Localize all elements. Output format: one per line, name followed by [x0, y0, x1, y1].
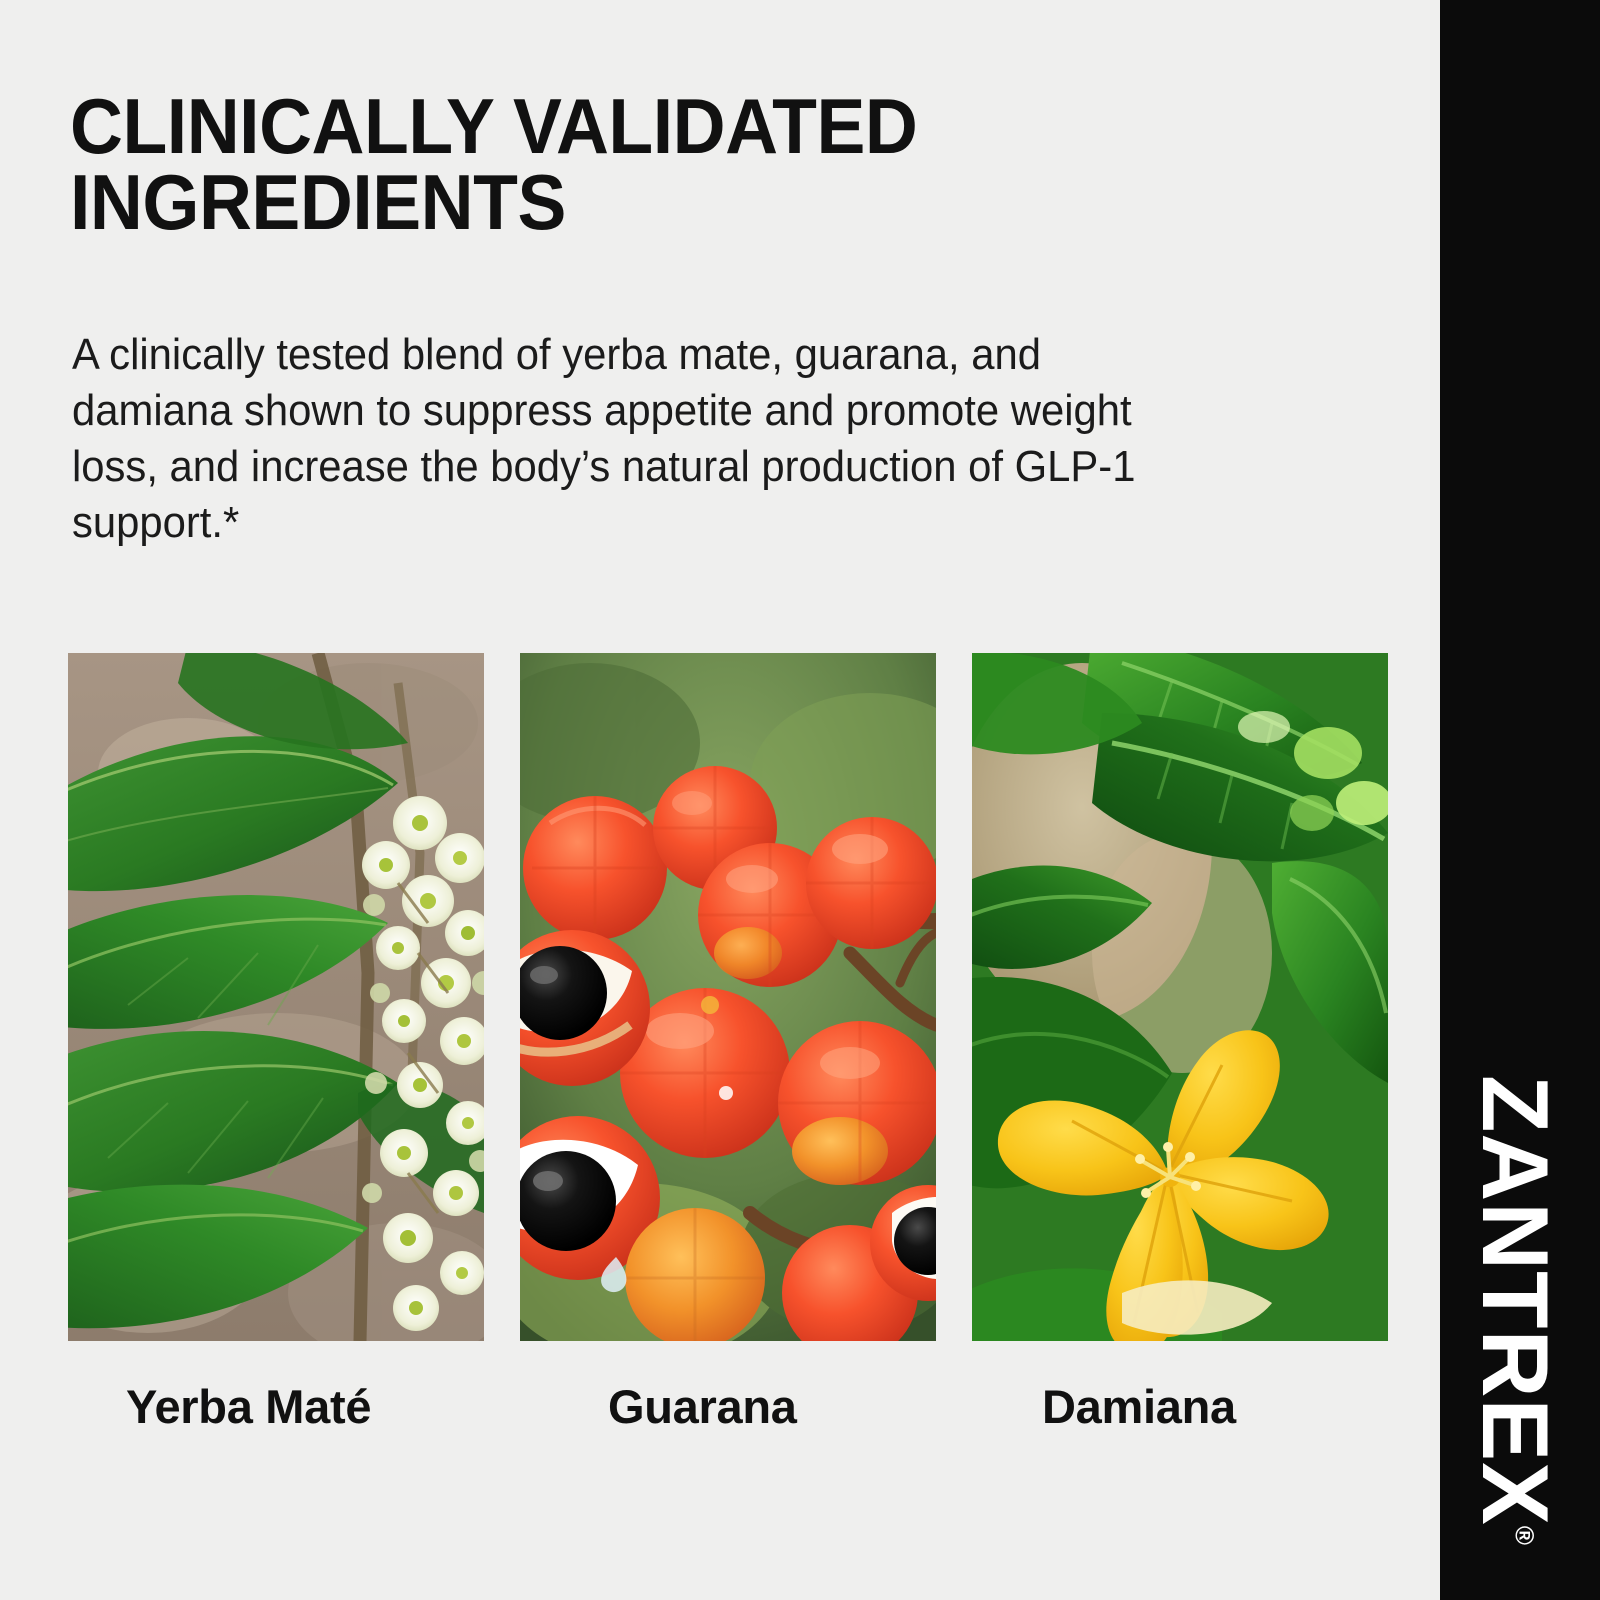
registered-mark: ®: [1509, 1526, 1539, 1545]
ingredient-card-guarana: Guarana: [520, 653, 936, 1434]
ingredient-grid: Yerba Maté: [68, 653, 1388, 1434]
ingredient-caption-damiana: Damiana: [972, 1379, 1388, 1434]
yerba-mate-illustration: [68, 653, 484, 1341]
intro-paragraph: A clinically tested blend of yerba mate,…: [72, 327, 1136, 551]
page-title-line-1: CLINICALLY VALIDATED: [70, 82, 917, 170]
page-title-line-2: INGREDIENTS: [70, 158, 566, 246]
yerba-mate-photo: [68, 653, 484, 1341]
content-column: CLINICALLY VALIDATED INGREDIENTS A clini…: [0, 0, 1440, 1600]
brand-logo-text: ZANTREX: [1463, 1075, 1568, 1526]
guarana-fruits: [520, 766, 936, 1341]
brand-logo-zantrex: ZANTREX®: [1468, 1075, 1562, 1545]
damiana-illustration: [972, 653, 1388, 1341]
ingredient-card-damiana: Damiana: [972, 653, 1388, 1434]
guarana-photo: [520, 653, 936, 1341]
guarana-illustration: [520, 653, 936, 1341]
ingredient-card-yerba-mate: Yerba Maté: [68, 653, 484, 1434]
damiana-photo: [972, 653, 1388, 1341]
ingredient-caption-yerba-mate: Yerba Maté: [68, 1379, 484, 1434]
brand-rail: ZANTREX®: [1440, 0, 1600, 1600]
ingredient-caption-guarana: Guarana: [520, 1379, 936, 1434]
page-title: CLINICALLY VALIDATED INGREDIENTS: [70, 88, 1254, 241]
